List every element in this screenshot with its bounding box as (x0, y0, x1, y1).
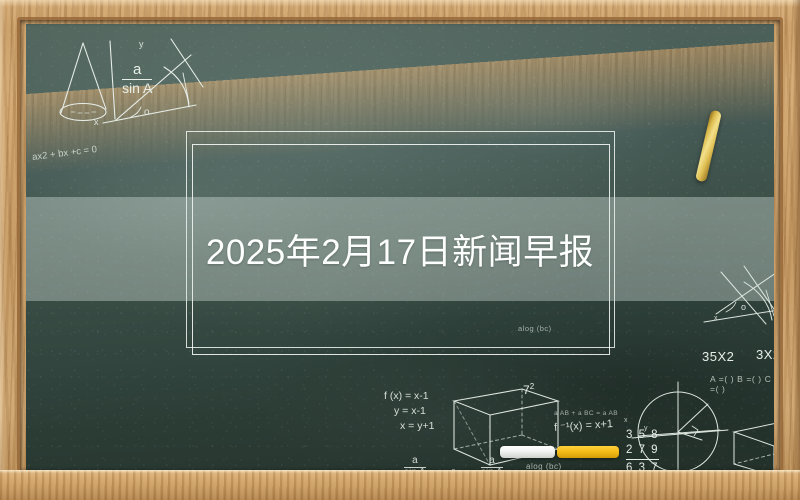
chalk-ledge-highlight (0, 470, 800, 473)
frame-bevel-left (0, 0, 6, 500)
chalk-piece-white (500, 446, 555, 458)
chalkboard-surface: y x o a sin A ax2 + bx +c = 0 (26, 24, 774, 472)
frame-bevel-top (0, 0, 800, 7)
frame-bevel-right (793, 0, 800, 500)
chalkboard-poster: y x o a sin A ax2 + bx +c = 0 (0, 0, 800, 500)
chalk-piece-yellow (557, 446, 619, 458)
page-title: 2025年2月17日新闻早报 (26, 197, 774, 301)
chalk-ledge (0, 470, 800, 500)
